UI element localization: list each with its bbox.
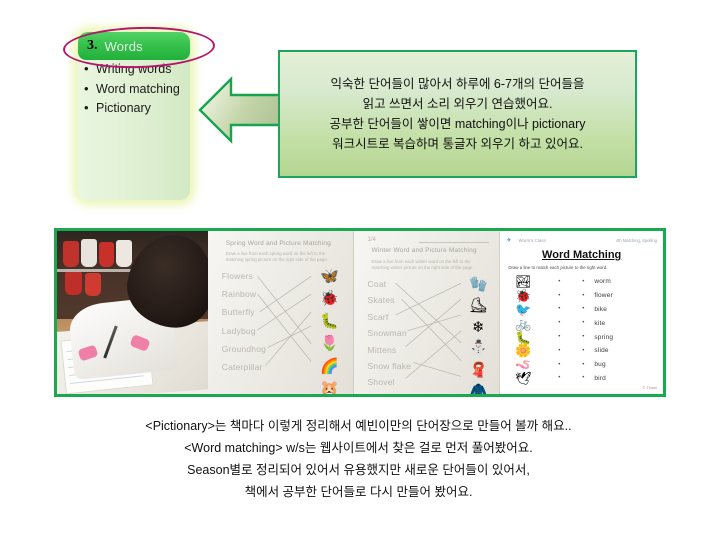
table-row: 🐞 • • flower [500,289,663,303]
dot-marker: • [572,362,594,368]
table-row: 🌼 • • slide [500,344,663,358]
spring-word-picture-matching-panel: Spring Word and Picture Matching Draw a … [208,231,353,394]
word-label: spring [594,334,613,341]
caption-block: <Pictionary>는 책마다 이렇게 정리해서 예빈이만의 단어장으로 만… [0,415,717,503]
dot-marker: • [546,320,572,326]
printable-instruction: Draw a line to match each picture to the… [508,265,607,270]
dot-marker: • [546,334,572,340]
dot-marker: • [572,320,594,326]
word-label: worm [594,278,611,285]
slide-picture-icon: 🪱 [500,358,546,371]
printable-title: Word Matching [500,249,663,261]
dot-marker: • [572,348,594,354]
photo-glove [81,239,97,267]
word-label: flower [594,292,613,299]
bird-picture-icon: 🐦 [500,303,546,316]
comment-box: 익숙한 단어들이 많아서 하루에 6-7개의 단어들을 읽고 쓰면서 소리 외우… [278,50,637,178]
bullet-pictionary: Pictionary [84,101,188,117]
table-row: 🐦 • • bike [500,303,663,317]
spring-picture-icon: 🌼 [500,344,546,357]
printable-brand: Worm's Class [518,238,546,243]
bike-picture-icon: 🚲 [500,317,546,330]
printable-footer: © Tinsel [642,385,657,390]
table-row: 🐛 • • spring [500,330,663,344]
dot-marker: • [546,362,572,368]
photo-glove [85,273,101,296]
worm-picture-icon: 🏞 [500,275,546,288]
words-bullet-list: Writing words Word matching Pictionary [84,62,188,121]
dot-marker: • [546,279,572,285]
photo-glove [65,271,82,295]
dot-marker: • [572,334,594,340]
dot-marker: • [546,293,572,299]
bug-picture-icon: 🐛 [500,331,546,344]
caption-line-4: 책에서 공부한 단어들로 다시 만들어 봤어요. [0,481,717,503]
comment-line-2: 읽고 쓰면서 소리 외우기 연습했어요. [363,94,553,114]
table-row: 🚲 • • kite [500,316,663,330]
dot-marker: • [572,279,594,285]
word-label: kite [594,320,605,327]
dot-marker: • [546,348,572,354]
word-label: bird [594,375,606,382]
kite-picture-icon: 🕊 [500,372,546,385]
printable-rows: 🏞 • • worm 🐞 • • flower 🐦 • • bike [500,275,663,385]
comment-line-4: 워크시트로 복습하며 통글자 외우기 하고 있어요. [332,134,583,154]
dot-marker: • [572,306,594,312]
caption-line-2: <Word matching> w/s는 웹사이트에서 찾은 걸로 먼저 풀어봤… [0,437,717,459]
winter-word-picture-matching-panel: 1/4 Winter Word and Picture Matching Dra… [353,231,500,394]
word-label: bike [594,306,607,313]
dot-marker: • [546,375,572,381]
comment-line-1: 익숙한 단어들이 많아서 하루에 6-7개의 단어들을 [331,74,585,94]
bullet-word-matching: Word matching [84,82,188,98]
brand-logo-icon: ✈ [506,237,511,244]
word-label: bug [594,361,605,368]
caption-line-3: Season별로 정리되어 있어서 유용했지만 새로운 단어들이 있어서, [0,459,717,481]
table-row: 🏞 • • worm [500,275,663,289]
flower-picture-icon: 🐞 [500,289,546,302]
spring-matching-lines [208,231,353,394]
dot-marker: • [572,375,594,381]
photo-glove [63,241,79,267]
dot-marker: • [546,306,572,312]
caption-line-1: <Pictionary>는 책마다 이렇게 정리해서 예빈이만의 단어장으로 만… [0,415,717,437]
comment-line-3: 공부한 단어들이 쌓이면 matching이나 pictionary [329,114,585,134]
word-matching-printable-panel: ✈ Worm's Class 4th Matching, Spelling Wo… [499,231,663,394]
dot-marker: • [572,293,594,299]
table-row: 🪱 • • bug [500,358,663,372]
girl-writing-photo [57,231,208,394]
slide-canvas: Writing words Word matching Pictionary 3… [0,0,717,545]
word-label: slide [594,347,608,354]
printable-meta: 4th Matching, Spelling [616,238,657,243]
table-row: 🕊 • • bird [500,372,663,386]
photo-glove [116,240,132,267]
photo-strip: Spring Word and Picture Matching Draw a … [54,228,666,397]
photo-glove [99,242,114,267]
winter-matching-lines [354,231,500,394]
